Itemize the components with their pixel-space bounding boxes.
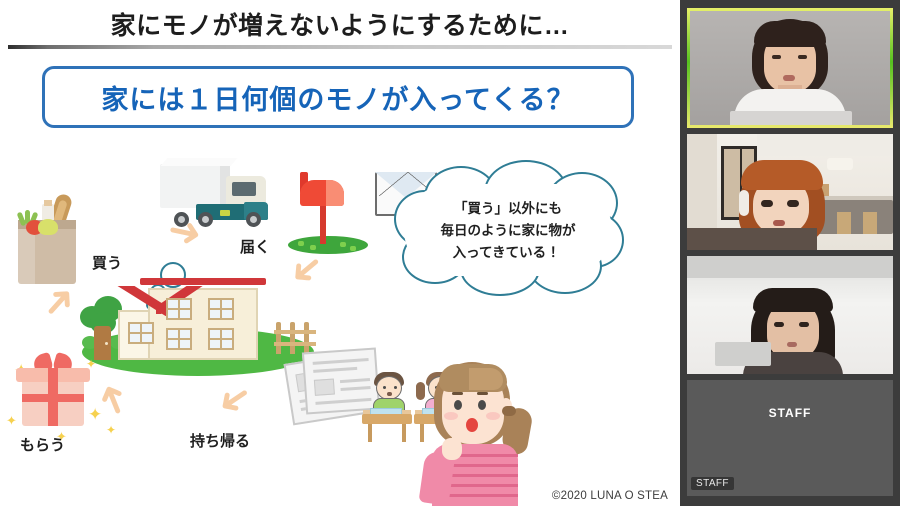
label-receive: もらう [20,434,65,455]
video-tile-participant-2[interactable] [687,134,893,250]
flow-diagram: 買う 届く [0,132,680,506]
video-tile-participant-1[interactable] [687,8,893,128]
video-participants-panel: STAFF STAFF [680,0,900,506]
grocery-bag-icon [12,194,84,284]
video-tile-participant-3[interactable] [687,256,893,374]
title-divider [8,45,672,49]
question-box: 家には１日何個のモノが入ってくる？ [42,66,634,128]
copyright-notice: ©2020 LUNA O STEA [552,490,668,502]
video-feed-participant-1 [690,11,890,125]
gift-box-icon: ✦✦✦ ✦✦✦ [10,354,94,432]
video-feed-participant-3 [687,256,893,374]
slide-title: 家にモノが増えないようにするために… [0,5,680,43]
mailbox-icon [288,176,360,254]
video-feed-participant-2 [687,134,893,250]
arrow-buy-to-house: ➜ [164,209,205,255]
participant-placeholder-label: STAFF [687,406,893,420]
participant-name-badge: STAFF [691,477,734,490]
label-bring-home: 持ち帰る [190,430,250,451]
arrow-bringhome-to-house: ➜ [210,374,260,426]
presentation-slide: 家にモノが増えないようにするために… 家には１日何個のモノが入ってくる？ 買う [0,0,680,506]
thinking-girl-illustration [412,356,542,506]
thought-bubble-text: 「買う」以外にも 毎日のように家に物が 入ってきている ！ [406,198,610,264]
screen: 家にモノが増えないようにするために… 家には１日何個のモノが入ってくる？ 買う [0,0,900,506]
thought-bubble: 「買う」以外にも 毎日のように家に物が 入ってきている ！ [388,160,628,300]
question-box-text: 家には１日何個のモノが入ってくる？ [101,78,574,117]
label-deliver: 届く [240,236,270,257]
arrow-gift-to-house: ➜ [88,377,138,423]
video-tile-participant-4[interactable]: STAFF STAFF [687,380,893,496]
